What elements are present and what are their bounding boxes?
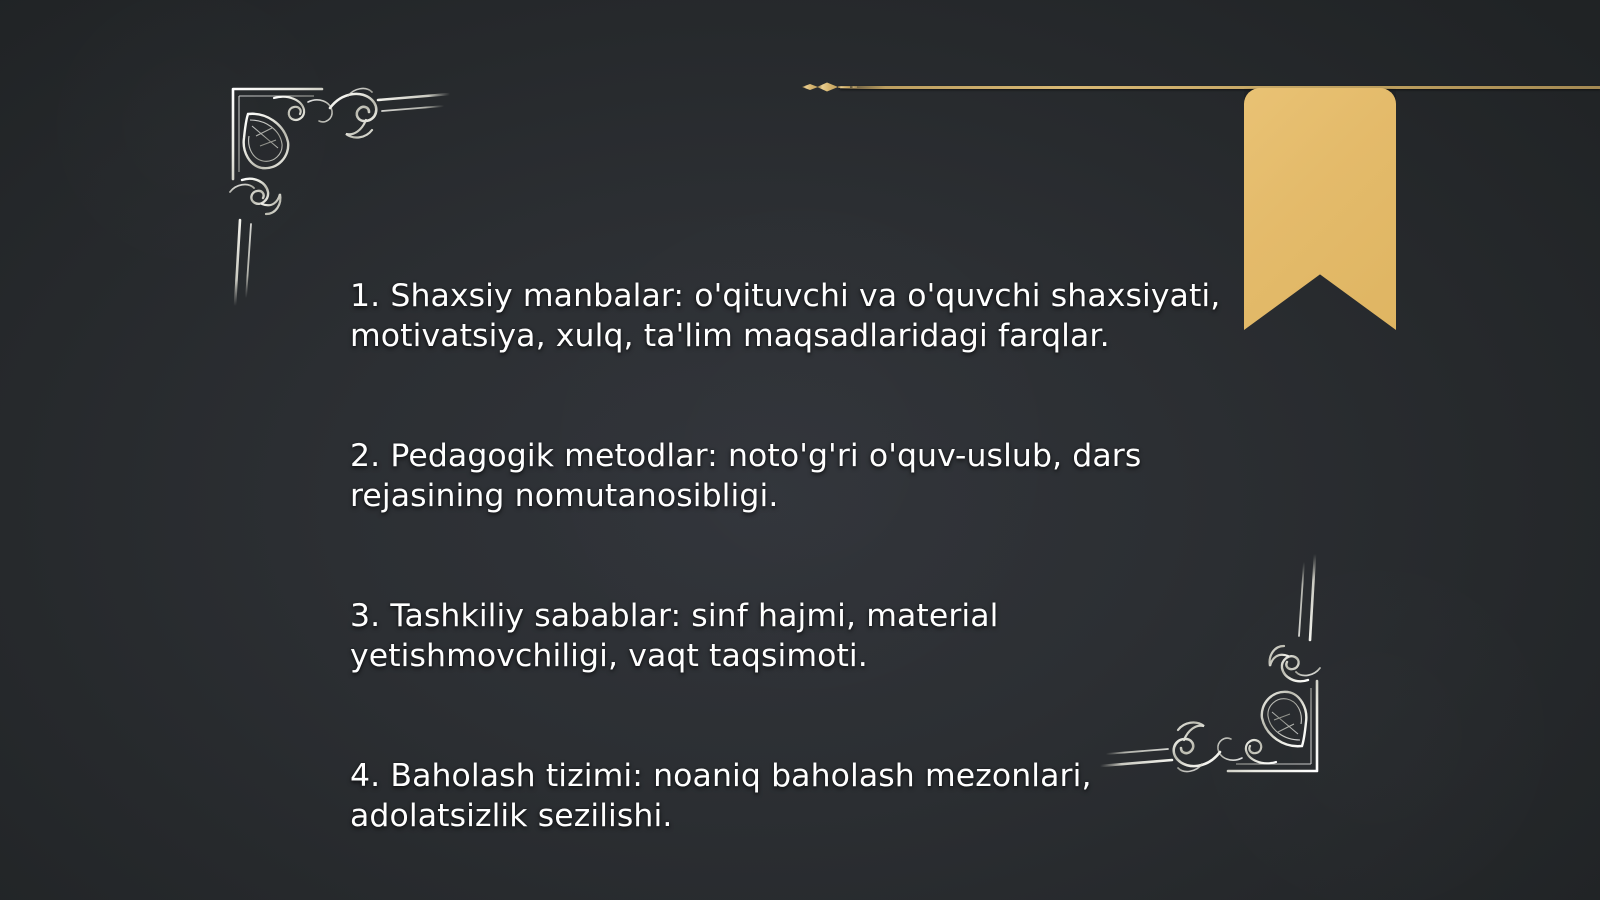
gold-horizontal-rule <box>840 86 1600 89</box>
slide-body-text: 1. Shaxsiy manbalar: o'qituvchi va o'quv… <box>350 196 1250 900</box>
list-item: 1. Shaxsiy manbalar: o'qituvchi va o'quv… <box>350 276 1250 356</box>
list-item: 4. Baholash tizimi: noaniq baholash mezo… <box>350 756 1250 836</box>
gold-bookmark-ribbon <box>1244 88 1396 330</box>
list-item: 3. Tashkiliy sabablar: sinf hajmi, mater… <box>350 596 1250 676</box>
presentation-slide: 1. Shaxsiy manbalar: o'qituvchi va o'quv… <box>0 0 1600 900</box>
list-item: 2. Pedagogik metodlar: noto'g'ri o'quv-u… <box>350 436 1250 516</box>
